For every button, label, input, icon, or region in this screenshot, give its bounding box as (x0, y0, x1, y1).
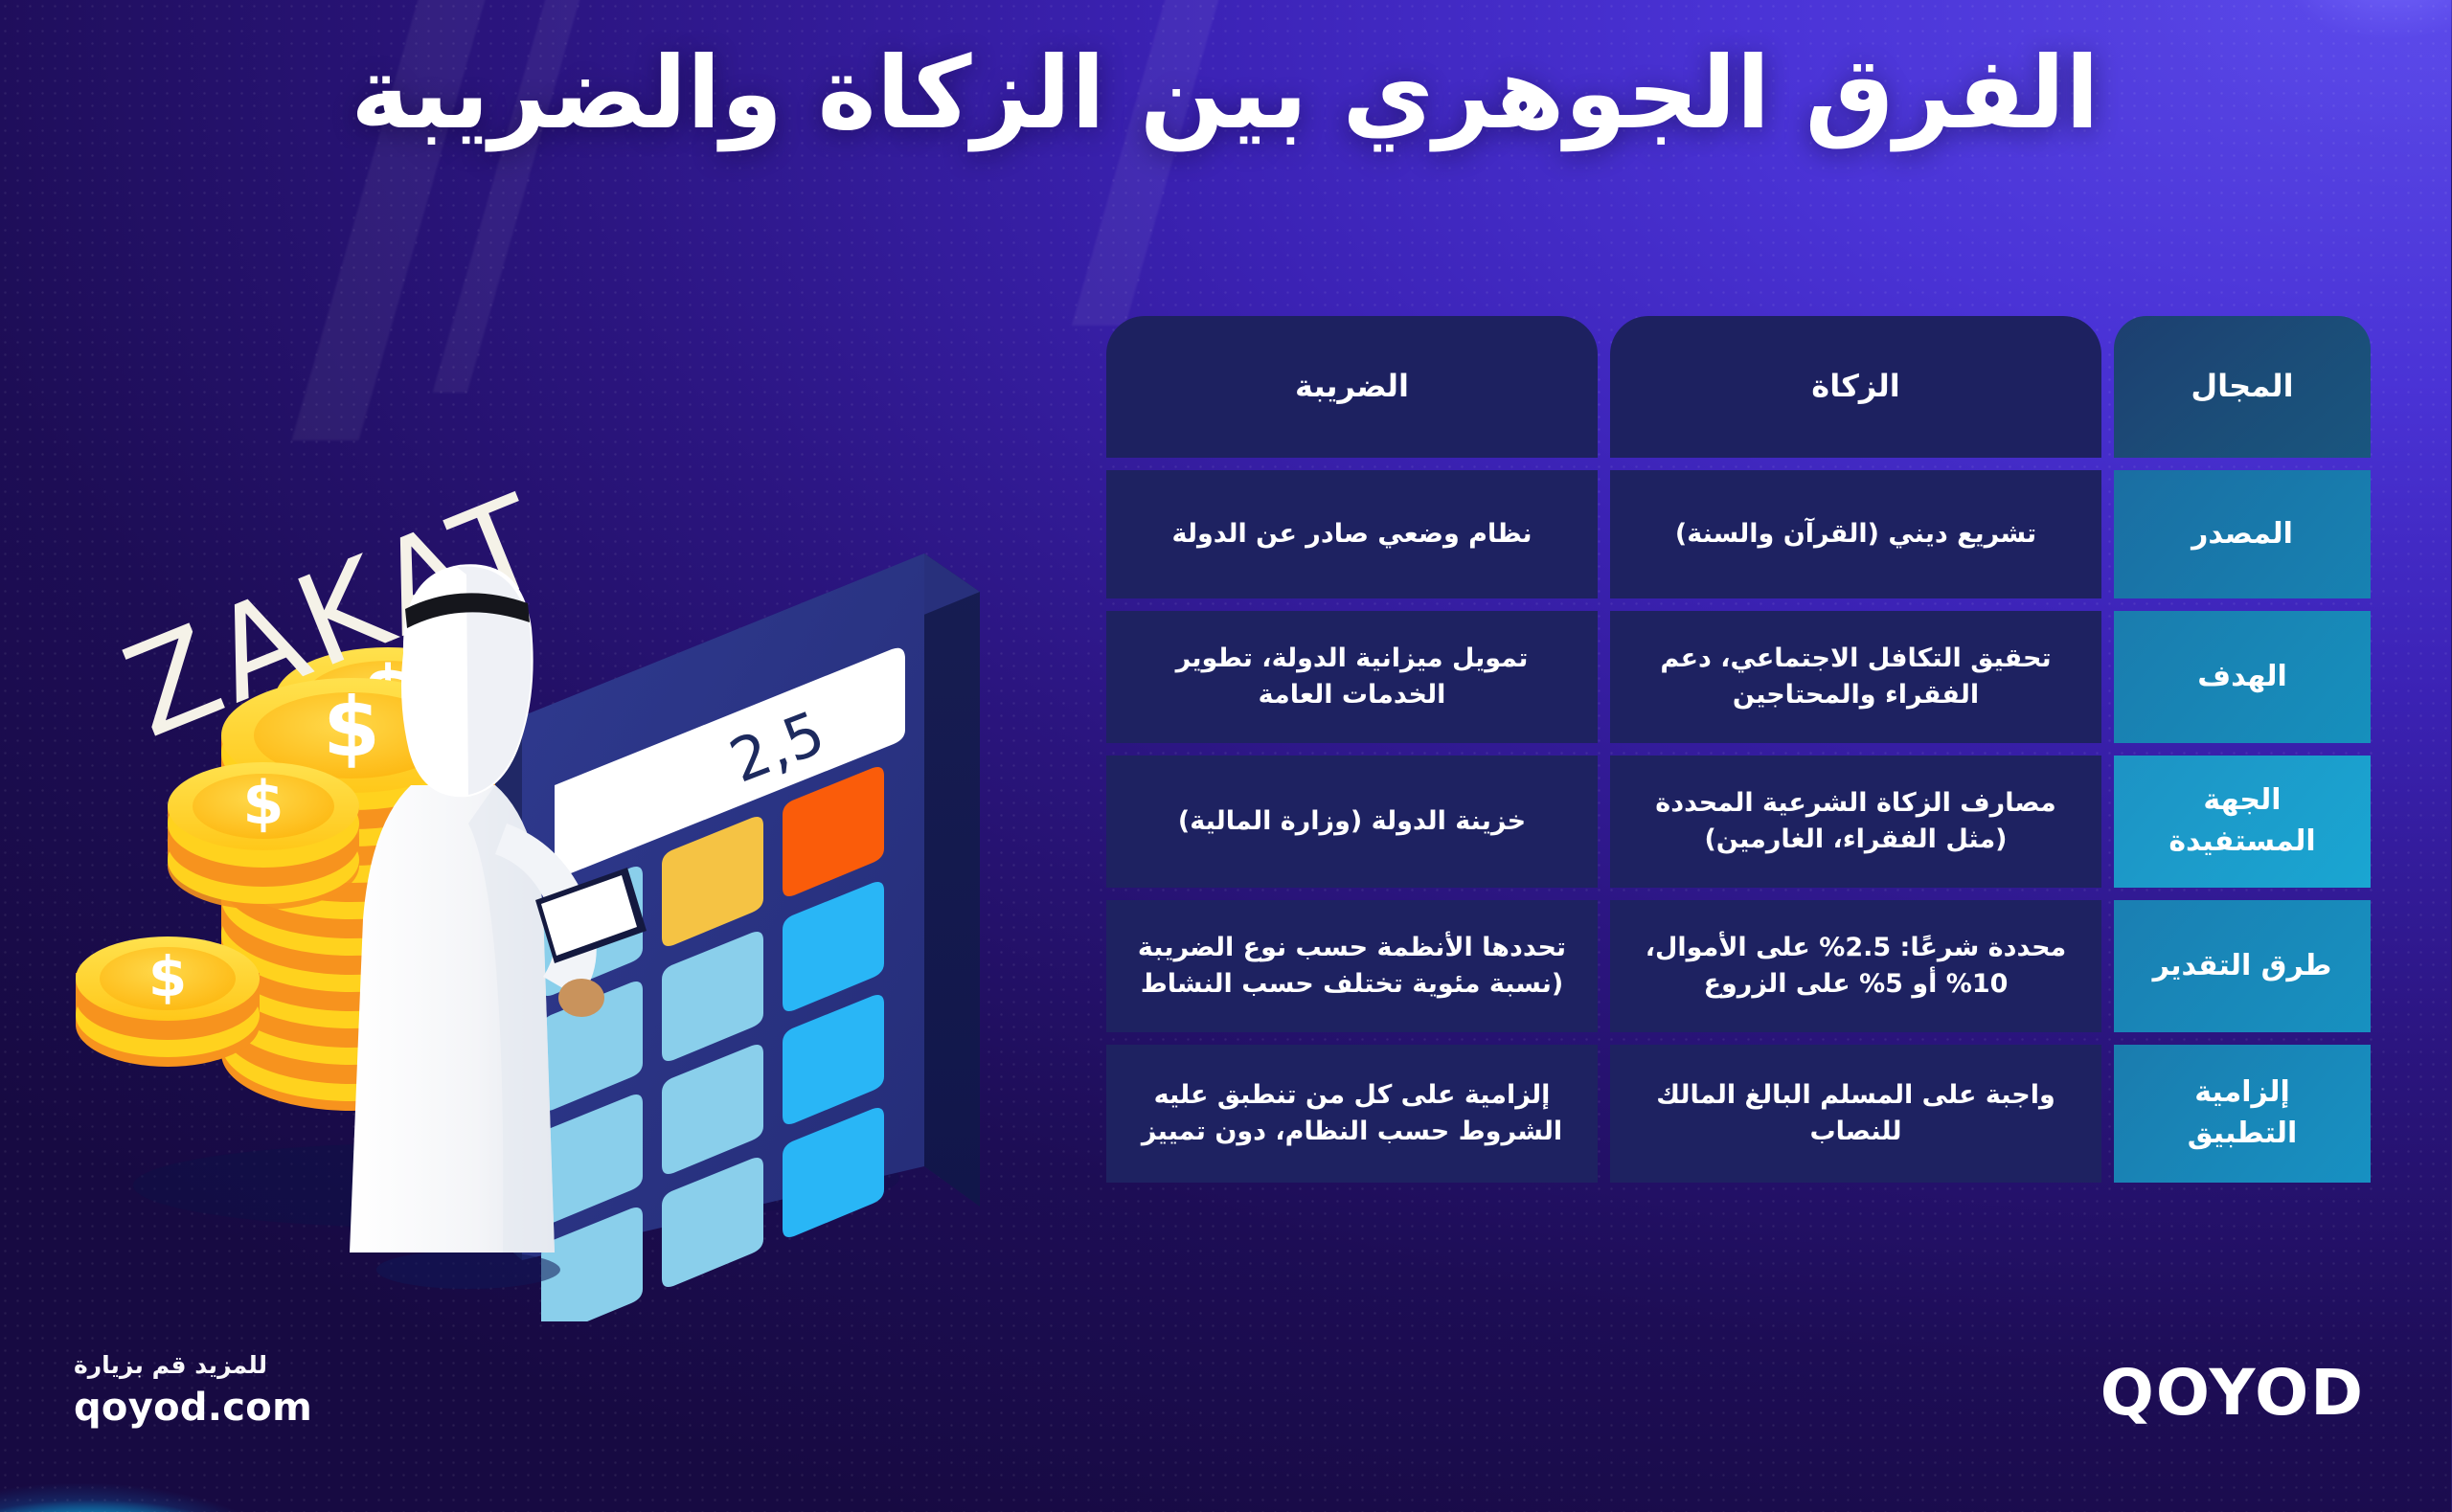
row-zakat-value: محددة شرعًا: 2.5% على الأموال، 10% أو 5%… (1611, 900, 2102, 1032)
table-row: الجهة المستفيدة مصارف الزكاة الشرعية الم… (1107, 756, 2372, 888)
row-tax-value: إلزامية على كل من تنطبق عليه الشروط حسب … (1107, 1045, 1599, 1183)
row-tax-value: نظام وضعي صادر عن الدولة (1107, 470, 1599, 598)
row-zakat-value: تشريع ديني (القرآن والسنة) (1611, 470, 2102, 598)
table-header-field: المجال (2115, 316, 2372, 458)
row-field-label: طرق التقدير (2115, 900, 2372, 1032)
coin-dollar-symbol: $ (149, 944, 188, 1009)
footer-cta: للمزيد قم بزيارة qoyod.com (75, 1350, 313, 1432)
footer-cta-line1: للمزيد قم بزيارة (75, 1350, 313, 1380)
row-tax-value: تمويل ميزانية الدولة، تطوير الخدمات العا… (1107, 611, 1599, 743)
table-row: المصدر تشريع ديني (القرآن والسنة) نظام و… (1107, 470, 2372, 598)
table-row: طرق التقدير محددة شرعًا: 2.5% على الأموا… (1107, 900, 2372, 1032)
zakat-illustration: $ $ $ $ (57, 287, 1092, 1321)
table-header-zakat: الزكاة (1611, 316, 2102, 458)
row-tax-value: خزينة الدولة (وزارة المالية) (1107, 756, 1599, 888)
qoyod-logo: QOYOD (2101, 1356, 2366, 1430)
table-row: إلزامية التطبيق واجبة على المسلم البالغ … (1107, 1045, 2372, 1183)
coin-stack-side: $ (169, 762, 360, 910)
comparison-table: المجال الزكاة الضريبة المصدر تشريع ديني … (1107, 316, 2372, 1183)
coin-dollar-symbol: $ (243, 768, 284, 838)
table-header-tax: الضريبة (1107, 316, 1599, 458)
row-zakat-value: مصارف الزكاة الشرعية المحددة (مثل الفقرا… (1611, 756, 2102, 888)
row-field-label: الجهة المستفيدة (2115, 756, 2372, 888)
row-tax-value: تحددها الأنظمة حسب نوع الضريبة (نسبة مئو… (1107, 900, 1599, 1032)
footer-cta-url[interactable]: qoyod.com (75, 1384, 313, 1432)
row-zakat-value: واجبة على المسلم البالغ المالك للنصاب (1611, 1045, 2102, 1183)
row-field-label: إلزامية التطبيق (2115, 1045, 2372, 1183)
row-field-label: المصدر (2115, 470, 2372, 598)
page-title: الفرق الجوهري بين الزكاة والضريبة (0, 34, 2452, 152)
table-row: الهدف تحقيق التكافل الاجتماعي، دعم الفقر… (1107, 611, 2372, 743)
row-zakat-value: تحقيق التكافل الاجتماعي، دعم الفقراء وال… (1611, 611, 2102, 743)
row-field-label: الهدف (2115, 611, 2372, 743)
table-header-row: المجال الزكاة الضريبة (1107, 316, 2372, 458)
qoyod-logo-text: QOYOD (2101, 1356, 2366, 1430)
coin-single: $ (77, 937, 261, 1067)
